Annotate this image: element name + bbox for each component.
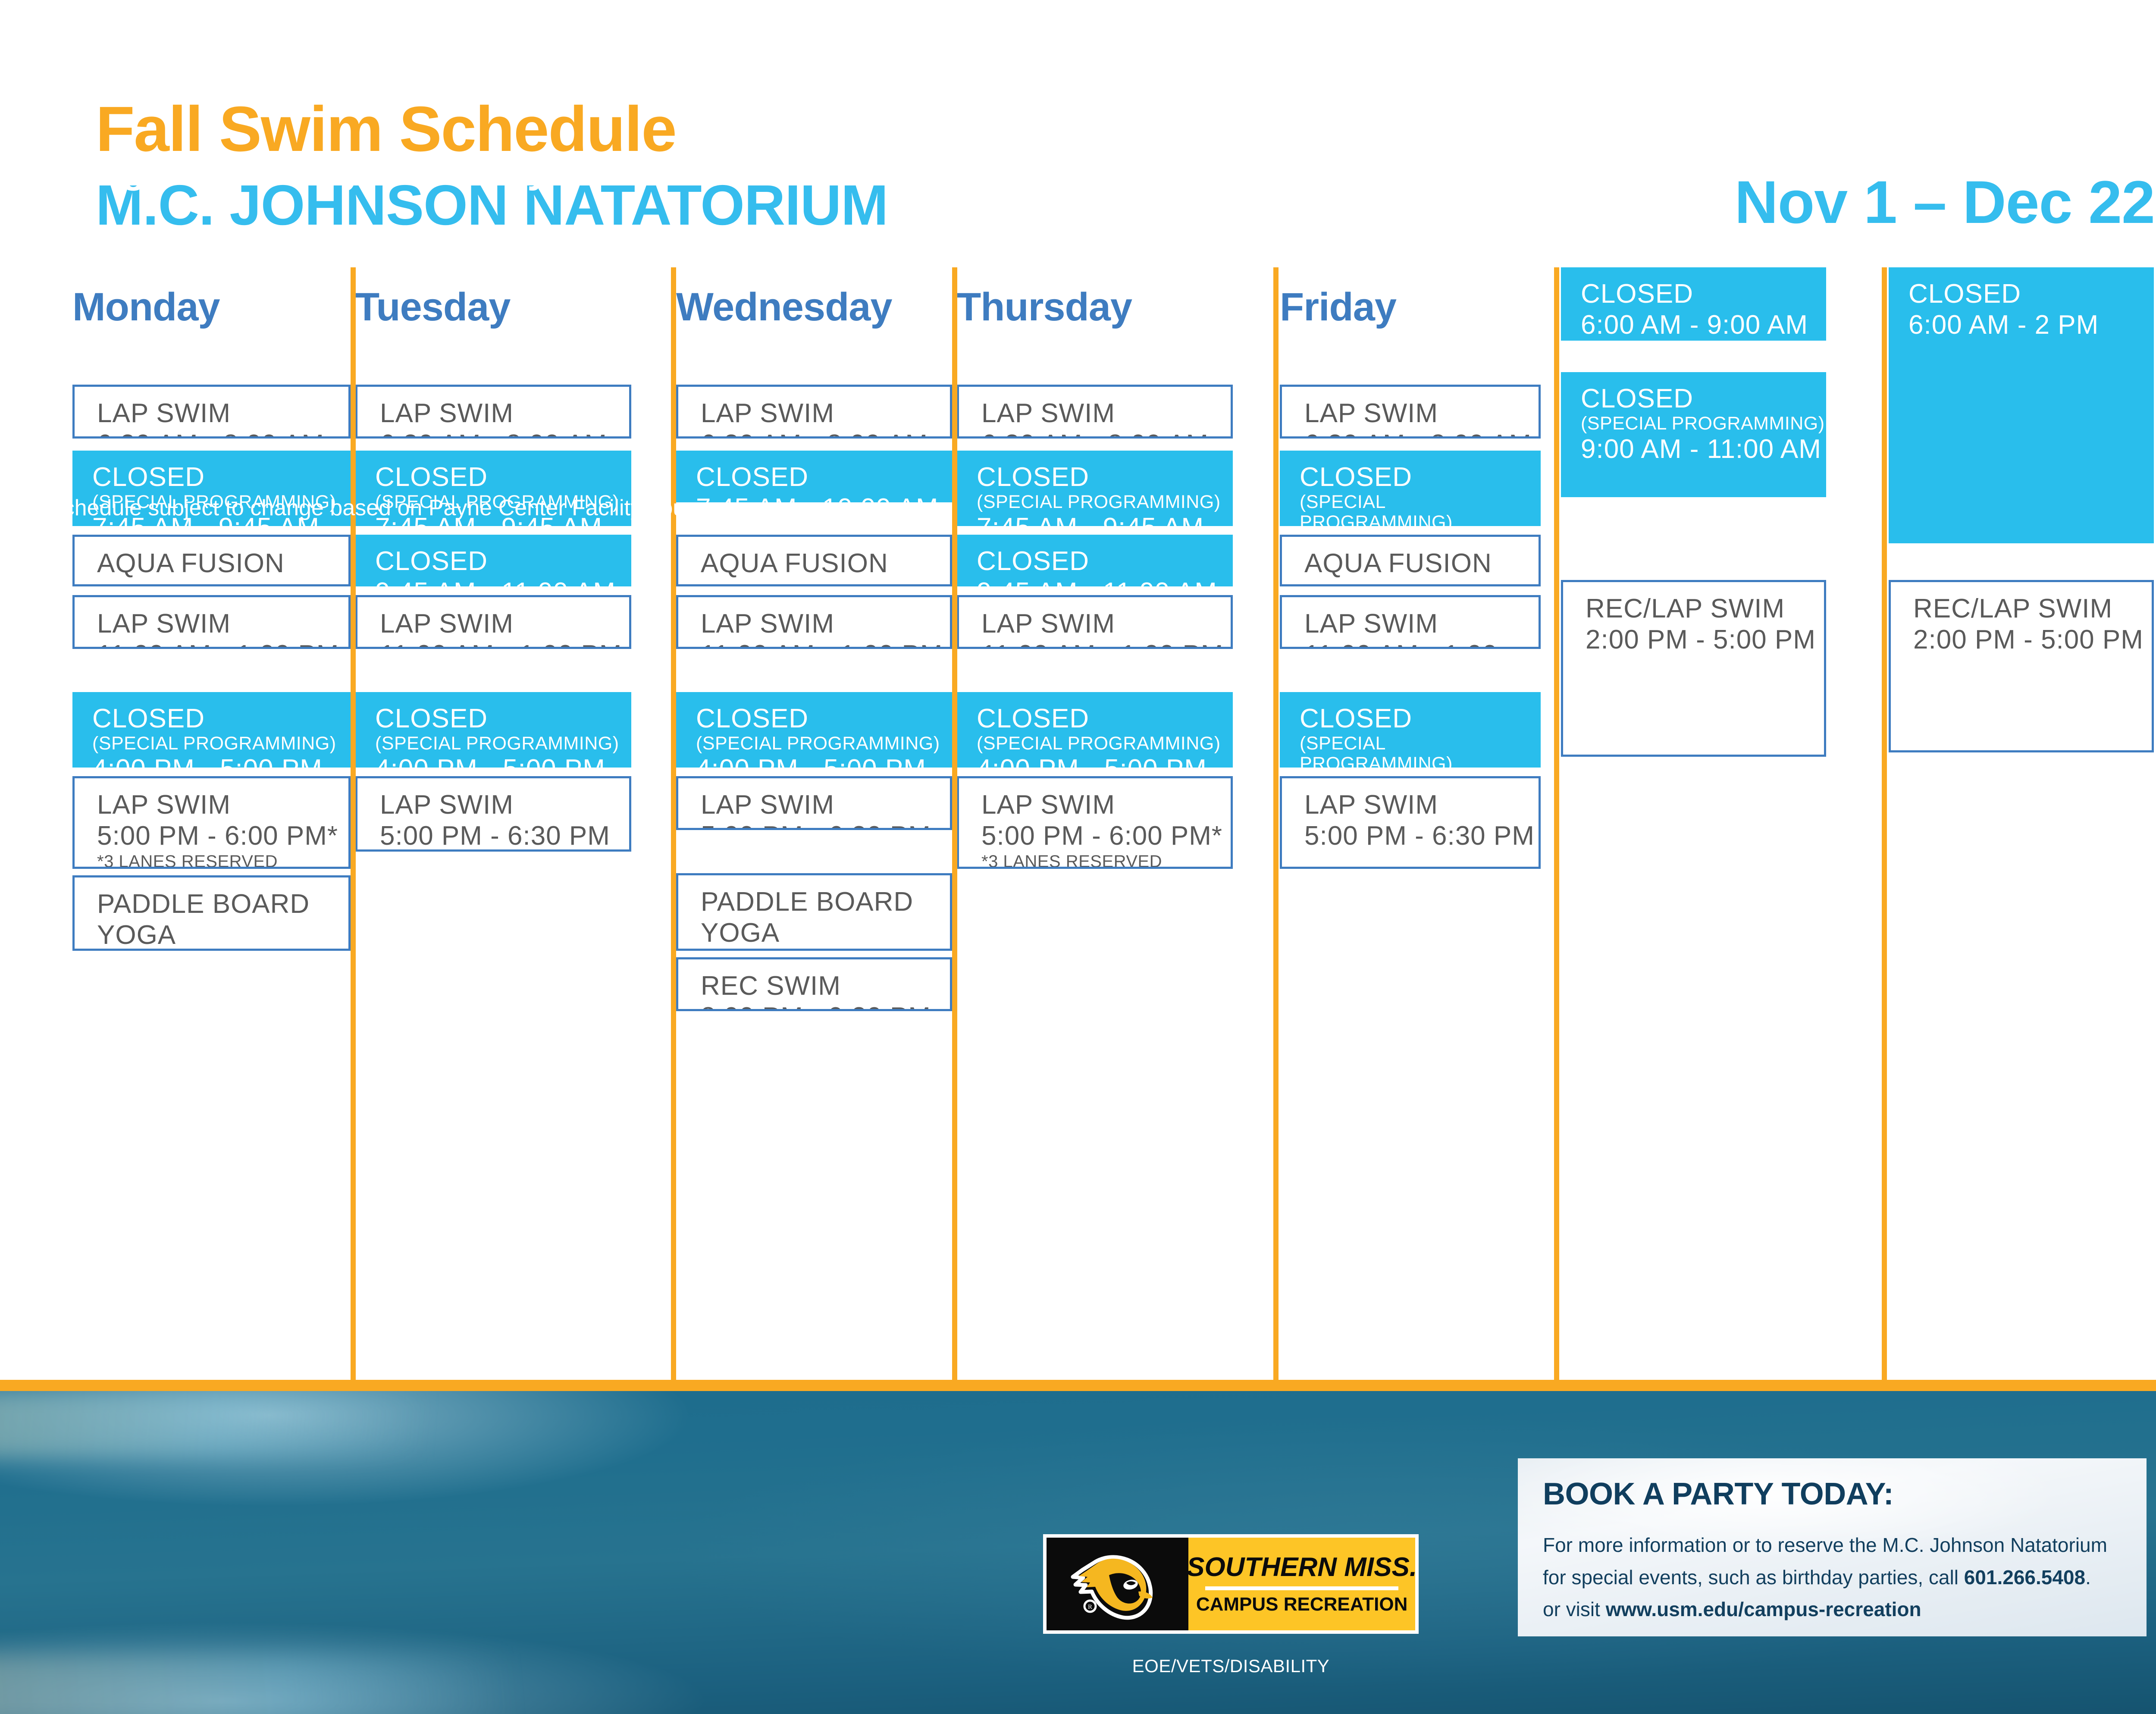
schedule-event-friday-5: CLOSED(SPECIAL PROGRAMMING)3:30 PM - 5:0…	[1280, 692, 1541, 768]
day-header-friday: Friday	[1280, 285, 1396, 330]
party-info-line-3: or visit www.usm.edu/campus-recreation	[1543, 1593, 2122, 1626]
event-title: LAP SWIM	[380, 398, 629, 429]
column-divider-4	[1273, 267, 1279, 1380]
event-title: PADDLE BOARD YOGA	[97, 889, 348, 951]
day-header-thursday: Thursday	[957, 285, 1132, 330]
event-title: CLOSED	[375, 546, 631, 577]
schedule-event-wednesday-6: LAP SWIM5:00 PM - 6:30 PM	[676, 776, 952, 830]
schedule-event-wednesday-5: CLOSED(SPECIAL PROGRAMMING)4:00 PM - 5:0…	[676, 692, 952, 768]
event-title: LAP SWIM	[97, 608, 348, 639]
schedule-disclaimer: Schedule subject to change based on Payn…	[48, 495, 710, 521]
event-time: 6:30 AM - 8:00 AM	[97, 429, 348, 439]
event-time: 5:00 PM - 6:30 PM	[1304, 821, 1539, 852]
event-time: 2:00 PM - 5:00 PM	[1586, 624, 1824, 655]
schedule-event-wednesday-3: AQUA FUSION10:00 AM - 11:00 AM	[676, 535, 952, 586]
water-sheen-top	[0, 1393, 552, 1457]
day-column-monday: MondayLAP SWIM6:30 AM - 8:00 AMCLOSED(SP…	[72, 267, 351, 1380]
schedule-event-monday-6: LAP SWIM5:00 PM - 6:00 PM**3 LANES RESER…	[72, 776, 351, 869]
event-time: 7:45 AM - 10:00 AM	[696, 493, 952, 502]
event-title: CLOSED	[1908, 279, 2154, 310]
schedule-event-saturday-1: CLOSED6:00 AM - 9:00 AM	[1561, 267, 1826, 341]
column-divider-6	[1882, 267, 1887, 1380]
day-header-monday: Monday	[72, 285, 220, 330]
event-title: CLOSED	[1581, 279, 1826, 310]
event-title: CLOSED	[696, 703, 952, 734]
southern-miss-campus-recreation-logo: R SOUTHERN MISS. CAMPUS RECREATION	[1043, 1534, 1419, 1634]
schedule-event-wednesday-7: PADDLE BOARD YOGA6:45 PM - 7:45 PM	[676, 873, 952, 951]
event-time: 9:00 AM - 11:00 AM	[1581, 434, 1826, 465]
event-subtitle: (SPECIAL PROGRAMMING)	[977, 733, 1233, 754]
schedule-event-wednesday-2: CLOSED7:45 AM - 10:00 AM	[676, 451, 952, 502]
event-title: LAP SWIM	[380, 608, 629, 639]
schedule-event-thursday-3: CLOSED9:45 AM - 11:00 AM	[957, 535, 1233, 586]
day-header-wednesday: Wednesday	[676, 285, 892, 330]
event-title: REC/LAP SWIM	[1586, 593, 1824, 624]
schedule-event-thursday-2: CLOSED(SPECIAL PROGRAMMING)7:45 AM - 9:4…	[957, 451, 1233, 526]
event-note-1: *3 LANES RESERVED	[981, 852, 1231, 869]
event-time: 9:45 AM - 11:00 AM	[375, 577, 631, 586]
svg-text:R: R	[1088, 1604, 1092, 1611]
event-time: 5:00 PM - 6:30 PM	[701, 821, 950, 830]
event-title: LAP SWIM	[1304, 398, 1539, 429]
event-time: 9:45 AM - 11:00 AM	[977, 577, 1233, 586]
lifeguard-notice: Lifeguard Always on Duty	[48, 144, 550, 192]
party-info-line-1: For more information or to reserve the M…	[1543, 1529, 2122, 1561]
logo-subtext: CAMPUS RECREATION	[1196, 1595, 1408, 1614]
party-line2-suffix: .	[2085, 1566, 2091, 1589]
day-column-sunday: SundayCLOSED6:00 AM - 2 PMREC/LAP SWIM2:…	[1889, 267, 2154, 1380]
column-divider-2	[671, 267, 676, 1380]
day-column-friday: FridayLAP SWIM6:30 AM - 8:00 AMCLOSED(SP…	[1280, 267, 1541, 1380]
event-time: 11:00 AM - 1:00 PM	[1304, 639, 1539, 649]
schedule-event-tuesday-3: CLOSED9:45 AM - 11:00 AM	[355, 535, 631, 586]
event-title: CLOSED	[92, 703, 351, 734]
event-title: AQUA FUSION	[701, 548, 950, 579]
event-title: REC/LAP SWIM	[1913, 593, 2152, 624]
event-title: LAP SWIM	[701, 790, 950, 821]
event-time: 6:30 AM - 8:00 AM	[380, 429, 629, 439]
poster-header: Fall Swim Schedule M.C. JOHNSON NATATORI…	[0, 0, 2156, 267]
water-sheen-bottom	[0, 1654, 612, 1714]
schedule-event-saturday-2: CLOSED(SPECIAL PROGRAMMING)9:00 AM - 11:…	[1561, 372, 1826, 497]
schedule-event-friday-3: AQUA FUSION10:00 AM - 11:00 AM	[1280, 535, 1541, 586]
schedule-event-tuesday-6: LAP SWIM5:00 PM - 6:30 PM	[355, 776, 631, 852]
event-title: LAP SWIM	[1304, 790, 1539, 821]
schedule-event-thursday-6: LAP SWIM5:00 PM - 6:00 PM**3 LANES RESER…	[957, 776, 1233, 869]
column-divider-5	[1554, 267, 1559, 1380]
column-divider-1	[351, 267, 356, 1380]
column-divider-3	[952, 267, 957, 1380]
event-title: LAP SWIM	[97, 398, 348, 429]
event-time: 6:30 AM - 8:00 AM	[981, 429, 1231, 439]
event-title: LAP SWIM	[97, 790, 348, 821]
golden-eagle-icon: R	[1047, 1538, 1188, 1630]
date-range: Nov 1 – Dec 22	[1735, 167, 2155, 237]
day-column-wednesday: WednesdayLAP SWIM6:30 AM - 8:00 AMCLOSED…	[676, 267, 952, 1380]
party-line2-prefix: for special events, such as birthday par…	[1543, 1566, 1964, 1589]
event-time: 5:00 PM - 6:00 PM*	[981, 821, 1231, 852]
book-a-party-title: BOOK A PARTY TODAY:	[1543, 1476, 2122, 1512]
event-subtitle: (SPECIAL PROGRAMMING)	[1581, 414, 1826, 434]
event-time: 10:00 AM - 11:00 AM	[97, 579, 348, 586]
event-time: 11:00 AM - 1:00 PM	[701, 639, 950, 649]
event-subtitle: (SPECIAL PROGRAMMING)	[696, 733, 952, 754]
gold-divider-rule	[0, 1380, 2156, 1391]
event-subtitle: (SPECIAL PROGRAMMING)	[1300, 733, 1541, 768]
schedule-event-wednesday-4: LAP SWIM11:00 AM - 1:00 PM	[676, 595, 952, 649]
event-title: CLOSED	[375, 462, 631, 493]
day-column-thursday: ThursdayLAP SWIM6:30 AM - 8:00 AMCLOSED(…	[957, 267, 1233, 1380]
book-a-party-panel: BOOK A PARTY TODAY: For more information…	[1518, 1458, 2147, 1636]
schedule-event-sunday-2: REC/LAP SWIM2:00 PM - 5:00 PM	[1889, 580, 2154, 752]
event-time: 8:00 PM - 9:30 PM	[701, 1002, 950, 1011]
event-time: 6:30 AM - 8:00 AM	[701, 429, 950, 439]
event-title: CLOSED	[92, 462, 351, 493]
logo-rule	[1205, 1586, 1398, 1590]
schedule-event-tuesday-4: LAP SWIM11:00 AM - 1:00 PM	[355, 595, 631, 649]
event-time: 2:00 PM - 5:00 PM	[1913, 624, 2152, 655]
event-title: LAP SWIM	[701, 398, 950, 429]
day-header-tuesday: Tuesday	[355, 285, 510, 330]
schedule-event-monday-4: LAP SWIM11:00 AM - 1:00 PM	[72, 595, 351, 649]
schedule-event-thursday-4: LAP SWIM11:00 AM - 1:00 PM	[957, 595, 1233, 649]
event-time: 11:00 AM - 1:00 PM	[981, 639, 1231, 649]
event-time: 4:00 PM - 5:00 PM	[92, 754, 351, 768]
schedule-event-monday-3: AQUA FUSION10:00 AM - 11:00 AM	[72, 535, 351, 586]
schedule-event-wednesday-8: REC SWIM8:00 PM - 9:30 PM	[676, 957, 952, 1011]
event-title: LAP SWIM	[981, 608, 1231, 639]
event-subtitle: (SPECIAL PROGRAMMING)	[92, 733, 351, 754]
party-website-url[interactable]: www.usm.edu/campus-recreation	[1606, 1598, 1921, 1620]
schedule-event-friday-2: CLOSED(SPECIAL PROGRAMMING)7:45 AM - 9:4…	[1280, 451, 1541, 526]
schedule-event-thursday-1: LAP SWIM6:30 AM - 8:00 AM	[957, 385, 1233, 439]
schedule-event-tuesday-5: CLOSED(SPECIAL PROGRAMMING)4:00 PM - 5:0…	[355, 692, 631, 768]
schedule-event-friday-1: LAP SWIM6:30 AM - 8:00 AM	[1280, 385, 1541, 439]
event-title: LAP SWIM	[1304, 608, 1539, 639]
party-info-line-2: for special events, such as birthday par…	[1543, 1561, 2122, 1594]
party-line3-prefix: or visit	[1543, 1598, 1606, 1620]
eoe-statement: EOE/VETS/DISABILITY	[1043, 1656, 1419, 1676]
event-note-1: *3 LANES RESERVED	[97, 852, 348, 869]
event-time: 6:30 AM - 8:00 AM	[1304, 429, 1539, 439]
schedule-event-wednesday-1: LAP SWIM6:30 AM - 8:00 AM	[676, 385, 952, 439]
event-title: CLOSED	[1300, 703, 1541, 734]
event-title: CLOSED	[977, 546, 1233, 577]
schedule-event-friday-4: LAP SWIM11:00 AM - 1:00 PM	[1280, 595, 1541, 649]
logo-wordmark: SOUTHERN MISS.	[1187, 1554, 1417, 1581]
event-time: 10:00 AM - 11:00 AM	[1304, 579, 1539, 586]
event-title: LAP SWIM	[981, 398, 1231, 429]
event-subtitle: (SPECIAL PROGRAMMING)	[375, 733, 631, 754]
event-title: CLOSED	[1300, 462, 1541, 493]
party-phone-number[interactable]: 601.266.5408	[1964, 1566, 2085, 1589]
event-title: AQUA FUSION	[97, 548, 348, 579]
event-title: LAP SWIM	[380, 790, 629, 821]
event-time: 6:00 AM - 2 PM	[1908, 310, 2154, 341]
event-title: CLOSED	[696, 462, 952, 493]
event-time: 11:00 AM - 1:00 PM	[380, 639, 629, 649]
event-subtitle: (SPECIAL PROGRAMMING)	[1300, 492, 1541, 526]
event-time: 5:00 PM - 6:30 PM	[380, 821, 629, 852]
event-title: LAP SWIM	[981, 790, 1231, 821]
event-title: LAP SWIM	[701, 608, 950, 639]
event-title: CLOSED	[375, 703, 631, 734]
schedule-event-monday-5: CLOSED(SPECIAL PROGRAMMING)4:00 PM - 5:0…	[72, 692, 351, 768]
event-title: AQUA FUSION	[1304, 548, 1539, 579]
schedule-event-thursday-5: CLOSED(SPECIAL PROGRAMMING)4:00 PM - 5:0…	[957, 692, 1233, 768]
event-time: 6:00 AM - 9:00 AM	[1581, 310, 1826, 341]
event-title: CLOSED	[977, 462, 1233, 493]
day-column-tuesday: TuesdayLAP SWIM6:30 AM - 8:00 AMCLOSED(S…	[355, 267, 631, 1380]
schedule-grid: MondayLAP SWIM6:30 AM - 8:00 AMCLOSED(SP…	[0, 267, 2156, 1380]
event-title: CLOSED	[977, 703, 1233, 734]
schedule-event-monday-1: LAP SWIM6:30 AM - 8:00 AM	[72, 385, 351, 439]
day-column-saturday: SaturdayCLOSED6:00 AM - 9:00 AMCLOSED(SP…	[1561, 267, 1826, 1380]
schedule-event-friday-6: LAP SWIM5:00 PM - 6:30 PM	[1280, 776, 1541, 869]
event-time: 4:00 PM - 5:00 PM	[375, 754, 631, 768]
event-title: REC SWIM	[701, 971, 950, 1002]
schedule-event-saturday-3: REC/LAP SWIM2:00 PM - 5:00 PM	[1561, 580, 1826, 757]
event-time: 7:45 AM - 9:45 AM	[977, 512, 1233, 526]
event-title: PADDLE BOARD YOGA	[701, 887, 950, 949]
event-title: CLOSED	[1581, 383, 1826, 414]
event-time: 4:00 PM - 5:00 PM	[977, 754, 1233, 768]
schedule-event-monday-7: PADDLE BOARD YOGA6:45 PM - 7:45 PM	[72, 875, 351, 951]
event-time: 4:00 PM - 5:00 PM	[696, 754, 952, 768]
event-subtitle: (SPECIAL PROGRAMMING)	[977, 492, 1233, 512]
event-time: 5:00 PM - 6:00 PM*	[97, 821, 348, 852]
event-time: 11:00 AM - 1:00 PM	[97, 639, 348, 649]
schedule-event-tuesday-1: LAP SWIM6:30 AM - 8:00 AM	[355, 385, 631, 439]
event-time: 6:45 PM - 7:45 PM	[701, 949, 950, 951]
schedule-event-sunday-1: CLOSED6:00 AM - 2 PM	[1889, 267, 2154, 543]
event-time: 10:00 AM - 11:00 AM	[701, 579, 950, 586]
